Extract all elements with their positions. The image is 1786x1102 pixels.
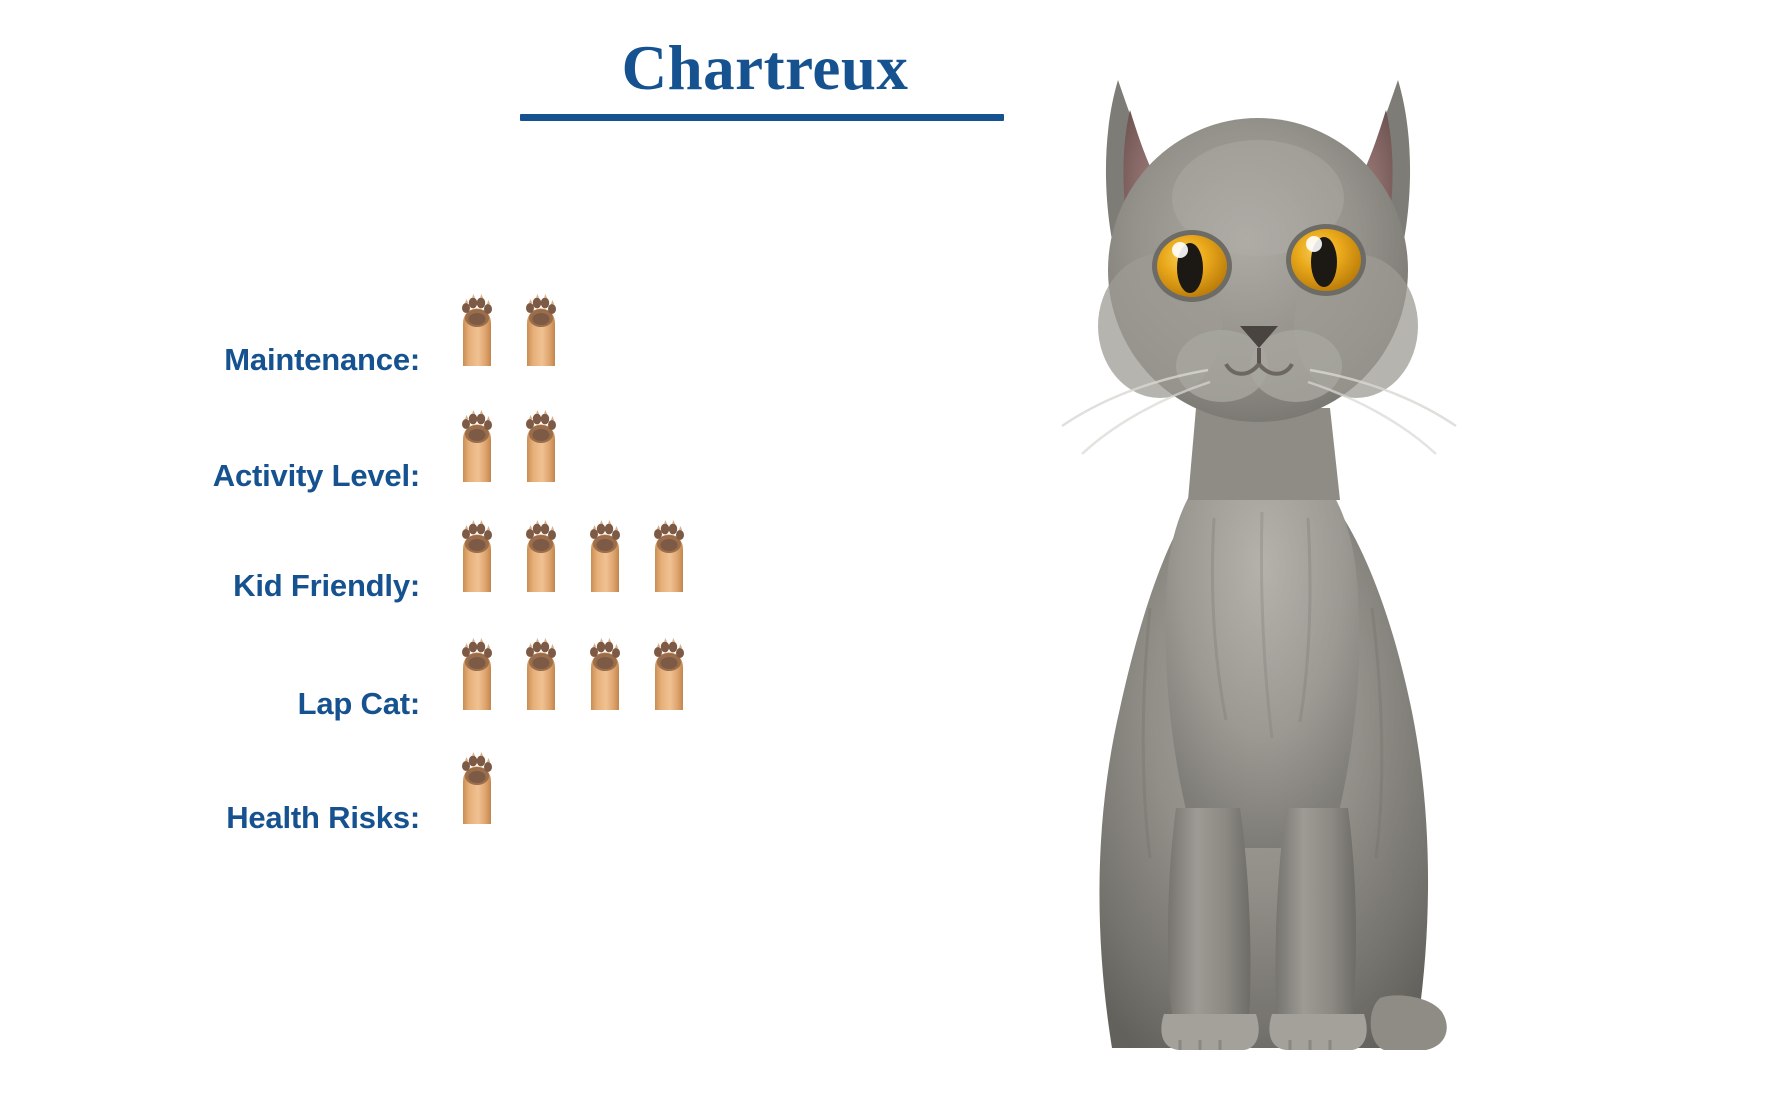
chartreux-cat-illustration xyxy=(1000,48,1520,1078)
rating-label-health-risks: Health Risks: xyxy=(0,800,900,836)
cat-paw-icon xyxy=(452,632,502,710)
ratings-list: Maintenance: xyxy=(0,268,900,838)
cat-paw-icon xyxy=(452,288,502,366)
breed-profile-page: Chartreux Maintenance: xyxy=(0,0,1786,1102)
breed-photo xyxy=(1000,48,1520,1078)
rating-row: Lap Cat: xyxy=(0,610,900,724)
rating-paws-lap-cat xyxy=(452,632,694,710)
cat-paw-icon xyxy=(452,404,502,482)
rating-row: Health Risks: xyxy=(0,724,900,838)
rating-row: Maintenance: xyxy=(0,268,900,382)
title-underline-rule xyxy=(520,114,1004,121)
rating-paws-health-risks xyxy=(452,746,502,824)
cat-paw-icon xyxy=(516,404,566,482)
cat-paw-icon xyxy=(452,514,502,592)
page-title: Chartreux xyxy=(520,36,1010,100)
rating-label-kid-friendly: Kid Friendly: xyxy=(0,568,900,604)
cat-paw-icon xyxy=(516,632,566,710)
rating-paws-activity-level xyxy=(452,404,566,482)
rating-label-activity-level: Activity Level: xyxy=(0,458,900,494)
rating-paws-maintenance xyxy=(452,288,566,366)
rating-paws-kid-friendly xyxy=(452,514,694,592)
rating-label-lap-cat: Lap Cat: xyxy=(0,686,900,722)
cat-paw-icon xyxy=(452,746,502,824)
cat-paw-icon xyxy=(580,632,630,710)
rating-row: Kid Friendly: xyxy=(0,496,900,610)
rating-label-maintenance: Maintenance: xyxy=(0,342,900,378)
cat-paw-icon xyxy=(516,288,566,366)
cat-paw-icon xyxy=(516,514,566,592)
page-title-block: Chartreux xyxy=(520,36,1010,121)
cat-paw-icon xyxy=(644,632,694,710)
cat-paw-icon xyxy=(644,514,694,592)
rating-row: Activity Level: xyxy=(0,382,900,496)
cat-paw-icon xyxy=(580,514,630,592)
